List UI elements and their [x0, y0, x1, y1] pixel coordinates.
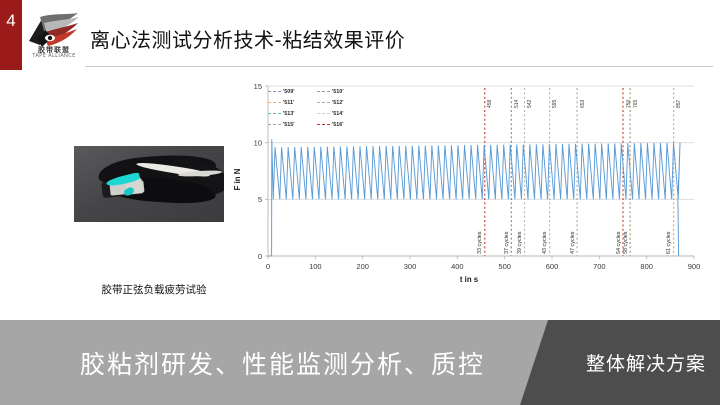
cycle-count-label-653: 47 cycles: [570, 232, 576, 254]
vline-time-label-653: 653: [580, 100, 586, 108]
legend-label: '510': [332, 89, 344, 95]
cycle-count-label-514: 37 cycles: [504, 232, 510, 254]
legend-item-516[interactable]: '516': [317, 119, 366, 130]
legend-item-510[interactable]: '510': [317, 86, 366, 97]
vline-time-label-857: 857: [676, 100, 682, 108]
legend-item-509[interactable]: '509': [268, 86, 317, 97]
legend-label: '516': [332, 122, 344, 128]
x-tick-label: 0: [266, 262, 270, 271]
x-tick-label: 900: [688, 262, 700, 271]
legend-swatch-icon: [268, 113, 281, 114]
page-title: 离心法测试分析技术-粘结效果评价: [90, 24, 405, 53]
y-tick-label: 10: [254, 138, 262, 147]
bottom-banner: 胶粘剂研发、性能监测分析、质控 整体解决方案: [0, 320, 720, 405]
banner-right-text: 整体解决方案: [586, 320, 706, 405]
cycle-count-label-857: 61 cycles: [666, 232, 672, 254]
legend-label: '511': [283, 100, 294, 106]
x-tick-label: 300: [404, 262, 417, 271]
legend-swatch-icon: [268, 91, 281, 92]
x-tick-label: 800: [640, 262, 653, 271]
legend-label: '513': [283, 111, 295, 117]
legend-item-515[interactable]: '515': [268, 119, 317, 130]
vline-time-label-458: 458: [487, 100, 493, 108]
legend-label: '514': [332, 111, 344, 117]
x-axis-title: t in s: [460, 275, 479, 284]
chart-legend: '509''510''511''512''513''514''515''516': [268, 86, 366, 130]
legend-swatch-icon: [317, 91, 330, 92]
cycle-count-label-765: 58 cycles: [623, 232, 629, 254]
legend-label: '512': [332, 100, 344, 106]
legend-swatch-icon: [268, 124, 281, 125]
title-divider: [85, 66, 713, 67]
legend-swatch-icon: [317, 113, 330, 114]
vline-time-label-765: 765: [633, 100, 639, 108]
experiment-photo: [74, 146, 224, 222]
brand-subtitle: 胶带联盟 TAPE ALLIANCE: [28, 47, 80, 59]
cycle-count-label-542: 39 cycles: [517, 232, 523, 254]
x-tick-label: 700: [593, 262, 606, 271]
x-tick-label: 500: [498, 262, 511, 271]
x-tick-label: 100: [309, 262, 322, 271]
cycle-count-label-750: 54 cycles: [616, 232, 622, 254]
legend-swatch-icon: [268, 102, 281, 103]
vline-time-label-595: 595: [552, 100, 558, 108]
banner-main-text: 胶粘剂研发、性能监测分析、质控: [80, 320, 485, 405]
fatigue-load-chart: 0100200300400500600700800900051015t in s…: [228, 82, 700, 290]
vline-time-label-514: 514: [514, 100, 520, 108]
x-tick-label: 600: [546, 262, 559, 271]
legend-item-514[interactable]: '514': [317, 108, 366, 119]
legend-swatch-icon: [317, 102, 330, 103]
legend-item-511[interactable]: '511': [268, 97, 317, 108]
cycle-count-label-458: 33 cycles: [477, 232, 483, 254]
vline-time-label-750: 750: [626, 100, 632, 108]
photo-caption: 胶带正弦负载疲劳试验: [74, 282, 234, 297]
y-tick-label: 5: [258, 195, 262, 204]
legend-label: '515': [283, 122, 295, 128]
y-tick-label: 15: [254, 82, 262, 91]
slide-root: 4 胶带联盟 TAPE ALLIANCE 离心法测试分析技术-粘结效果评价 胶带: [0, 0, 720, 405]
legend-label: '509': [283, 89, 295, 95]
vline-time-label-542: 542: [527, 100, 533, 108]
x-tick-label: 200: [356, 262, 369, 271]
y-axis-title: F in N: [233, 168, 242, 190]
page-number-badge: 4: [0, 0, 22, 70]
cycle-count-label-595: 43 cycles: [542, 232, 548, 254]
x-tick-label: 400: [451, 262, 464, 271]
legend-swatch-icon: [317, 124, 330, 125]
legend-item-513[interactable]: '513': [268, 108, 317, 119]
brand-name-en: TAPE ALLIANCE: [32, 53, 75, 59]
legend-item-512[interactable]: '512': [317, 97, 366, 108]
y-tick-label: 0: [258, 252, 262, 261]
